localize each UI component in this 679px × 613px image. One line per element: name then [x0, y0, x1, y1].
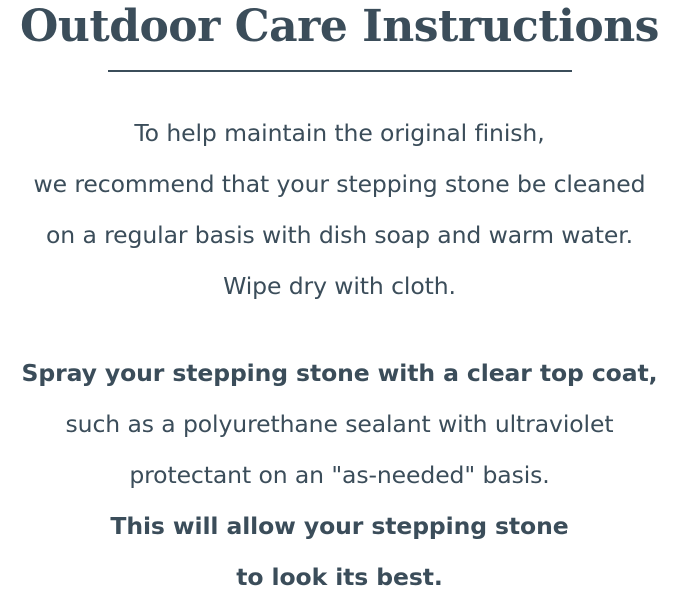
paragraph-two-line-4: This will allow your stepping stone: [0, 501, 679, 552]
paragraph-two: Spray your stepping stone with a clear t…: [0, 348, 679, 603]
title-divider: [108, 70, 572, 72]
divider-wrapper: [0, 70, 679, 72]
paragraph-two-line-1: Spray your stepping stone with a clear t…: [0, 348, 679, 399]
paragraph-one: To help maintain the original finish, we…: [0, 108, 679, 312]
page-title: Outdoor Care Instructions: [0, 0, 679, 50]
paragraph-one-line-3: on a regular basis with dish soap and wa…: [0, 210, 679, 261]
paragraph-two-line-3: protectant on an "as-needed" basis.: [0, 450, 679, 501]
paragraph-one-line-4: Wipe dry with cloth.: [0, 261, 679, 312]
paragraph-two-line-2: such as a polyurethane sealant with ultr…: [0, 399, 679, 450]
paragraph-one-line-1: To help maintain the original finish,: [0, 108, 679, 159]
paragraph-one-line-2: we recommend that your stepping stone be…: [0, 159, 679, 210]
paragraph-two-line-5: to look its best.: [0, 552, 679, 603]
paragraph-spacer: [0, 312, 679, 348]
care-instructions-page: Outdoor Care Instructions To help mainta…: [0, 0, 679, 613]
